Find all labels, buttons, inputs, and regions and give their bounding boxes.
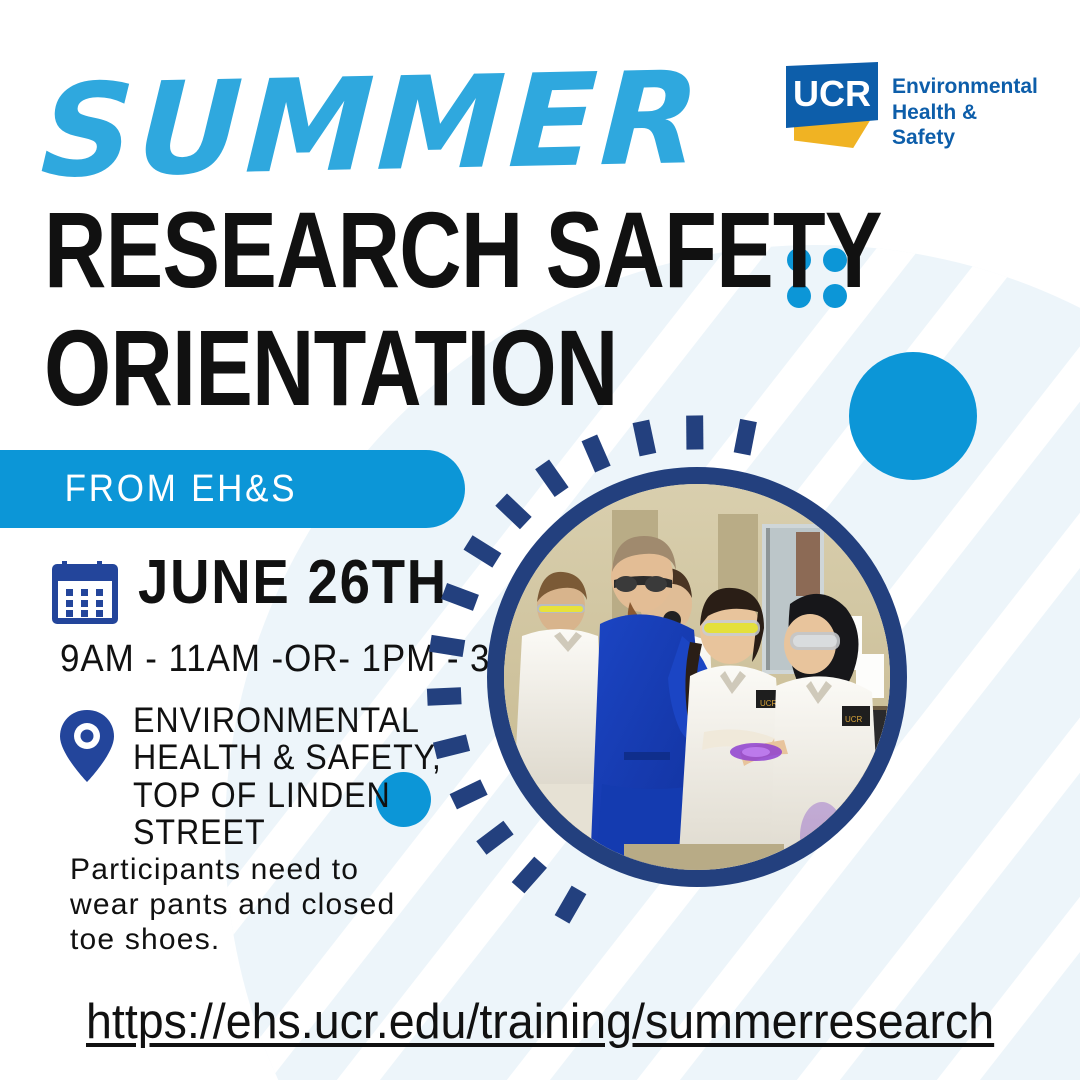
logo-line-1: Environmental	[892, 74, 1038, 100]
event-address: ENVIRONMENTAL HEALTH & SAFETY, TOP OF LI…	[133, 702, 442, 852]
ring-dash	[633, 420, 657, 457]
headline-line-2: ORIENTATION	[44, 318, 618, 417]
logo-line-2: Health & Safety	[892, 100, 1038, 151]
lab-photo: UCR UCR	[504, 484, 890, 870]
ring-dash	[734, 419, 757, 456]
photo-medallion: UCR UCR	[487, 467, 907, 887]
from-ehs-label: FROM EH&S	[0, 468, 297, 511]
map-pin-icon	[58, 708, 116, 784]
registration-url[interactable]: https://ehs.ucr.edu/training/summerresea…	[86, 998, 994, 1047]
ring-dash	[433, 734, 470, 759]
ring-dash	[495, 493, 531, 529]
ring-dash	[512, 857, 547, 894]
ucr-wordmark: UCR	[793, 76, 871, 112]
svg-text:UCR: UCR	[845, 715, 863, 724]
poster-canvas: UCR Environmental Health & Safety SUMMER…	[0, 0, 1080, 1080]
ring-dash	[476, 821, 513, 855]
from-ehs-banner: FROM EH&S	[0, 450, 465, 528]
calendar-icon	[52, 558, 118, 624]
ucr-department-name: Environmental Health & Safety	[892, 74, 1038, 151]
ring-dash	[686, 415, 703, 449]
headline-script-word: SUMMER	[38, 55, 706, 197]
ring-dash	[464, 535, 502, 567]
ring-dash	[535, 459, 568, 497]
ucr-blue-box: UCR	[786, 62, 878, 128]
ring-dash	[582, 435, 611, 473]
event-date: JUNE 26TH	[138, 552, 448, 614]
ring-dash	[429, 635, 465, 657]
attire-note: Participants need to wear pants and clos…	[70, 852, 470, 957]
ring-dash	[441, 583, 479, 611]
ring-dash	[427, 687, 462, 705]
svg-text:UCR: UCR	[760, 699, 778, 708]
ucr-logo-mark: UCR	[786, 62, 881, 150]
ring-dash	[555, 886, 587, 924]
ring-dash	[450, 779, 488, 809]
headline-line-1: RESEARCH SAFETY	[44, 200, 882, 299]
ucr-ehs-logo: UCR Environmental Health & Safety	[786, 62, 1036, 152]
